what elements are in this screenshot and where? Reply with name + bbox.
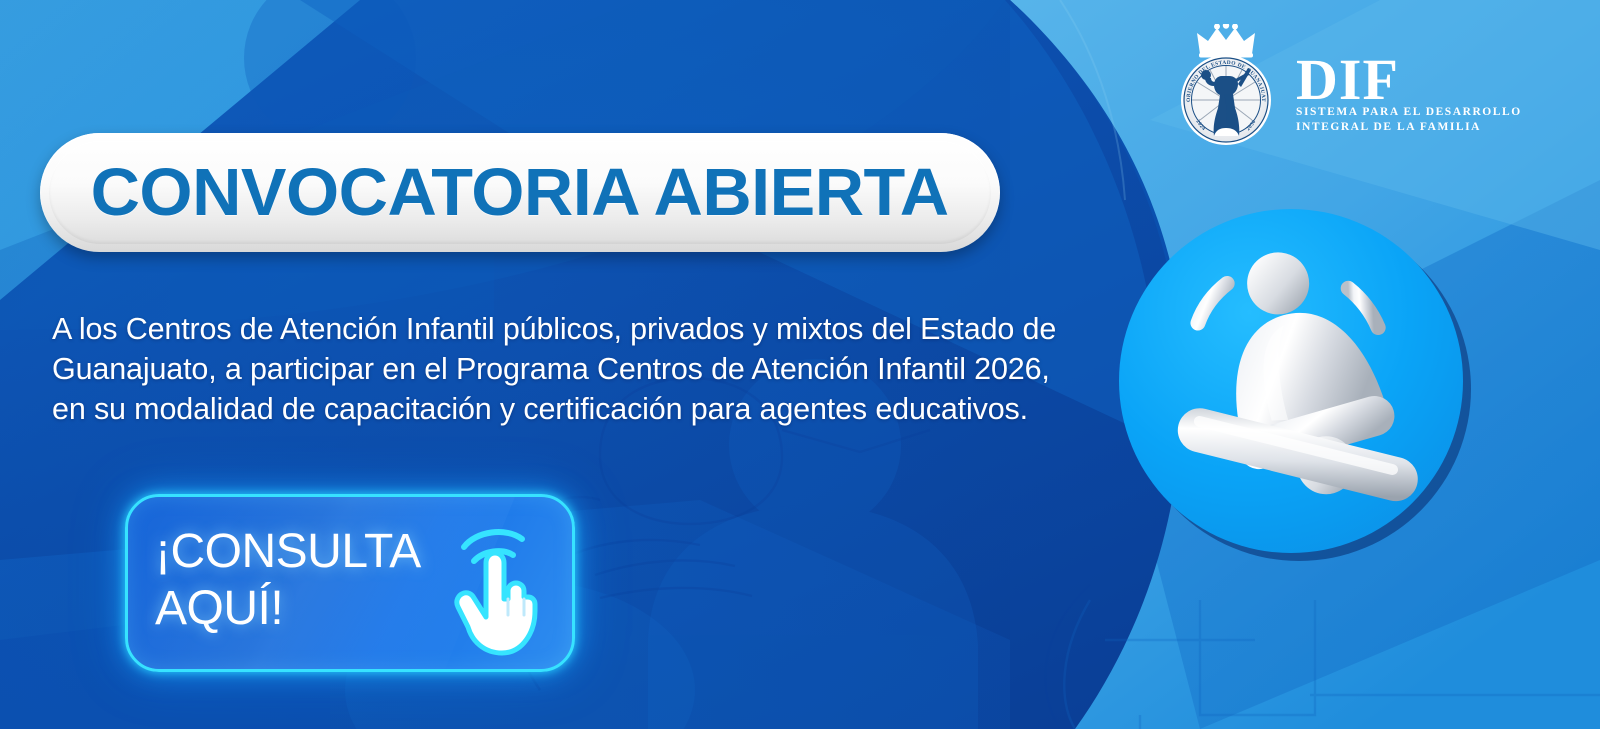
dif-wordmark-block: DIF SISTEMA PARA EL DESARROLLO INTEGRAL … (1296, 41, 1522, 134)
promo-banner: GOBIERNO DEL ESTADO DE GUANAJUATO 2024 2… (0, 0, 1600, 729)
dif-wordmark: DIF (1296, 55, 1522, 105)
pointing-hand-tap-icon (440, 503, 566, 663)
page-title: CONVOCATORIA ABIERTA (91, 154, 949, 231)
consulta-aqui-button[interactable]: ¡CONSULTA AQUÍ! (125, 494, 575, 672)
headline-pill: CONVOCATORIA ABIERTA (40, 133, 1000, 252)
body-paragraph: A los Centros de Atención Infantil públi… (52, 309, 1062, 429)
guanajuato-state-seal-icon: GOBIERNO DEL ESTADO DE GUANAJUATO 2024 2… (1170, 24, 1282, 152)
cta-label: ¡CONSULTA AQUÍ! (155, 523, 421, 637)
notification-bell-badge (1113, 203, 1471, 561)
dif-tagline-line-2: INTEGRAL DE LA FAMILIA (1296, 120, 1522, 135)
dif-tagline-line-1: SISTEMA PARA EL DESARROLLO (1296, 105, 1522, 120)
dif-logo-lockup: GOBIERNO DEL ESTADO DE GUANAJUATO 2024 2… (1170, 18, 1490, 158)
